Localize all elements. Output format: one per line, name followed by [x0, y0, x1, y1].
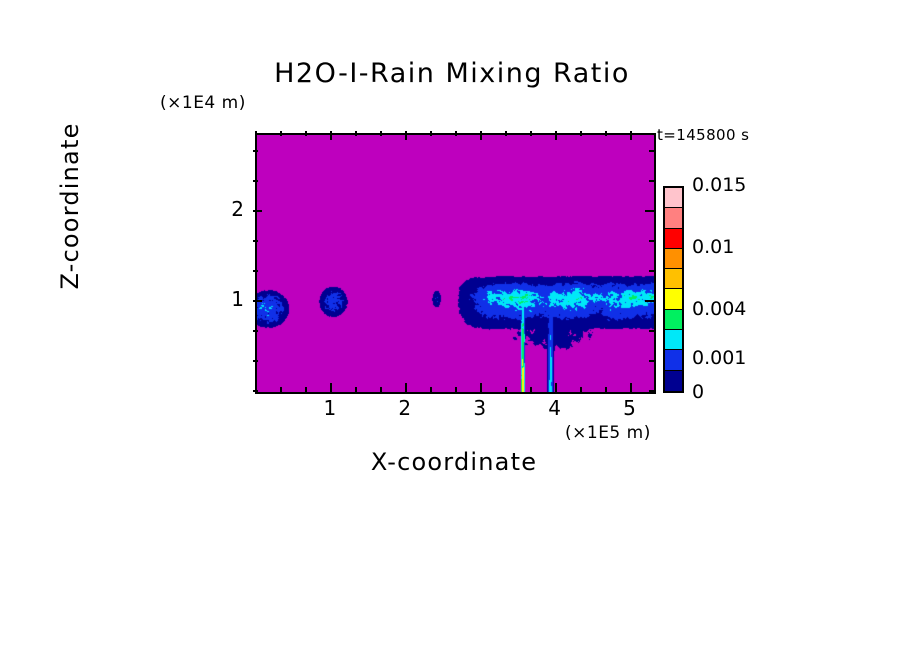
- x-axis-tick-top: [305, 131, 307, 136]
- x-axis-tick: [605, 387, 607, 392]
- y-axis-tick: [253, 240, 258, 242]
- y-axis-unit-label: (×1E4 m): [160, 93, 246, 113]
- contour-field: [257, 135, 654, 392]
- y-axis-tick: [253, 150, 258, 152]
- x-axis-tick-top: [430, 131, 432, 136]
- colorbar-tick-label: 0.004: [692, 298, 746, 320]
- x-axis-tick: [630, 383, 632, 392]
- x-axis-tick-top: [630, 131, 632, 140]
- y-axis-tick-right: [649, 390, 654, 392]
- y-axis-tick: [253, 210, 262, 212]
- colorbar-band: [665, 229, 682, 249]
- x-axis-tick: [355, 387, 357, 392]
- x-axis-tick: [305, 387, 307, 392]
- x-axis-tick: [480, 383, 482, 392]
- x-axis-tick-top: [555, 131, 557, 140]
- x-axis-tick-top: [405, 131, 407, 140]
- x-axis-tick-top: [255, 131, 257, 136]
- y-axis-tick-right: [649, 360, 654, 362]
- figure-canvas: H2O-I-Rain Mixing Ratio (×1E4 m) Z-coord…: [0, 0, 904, 654]
- colorbar-tick-label: 0: [692, 381, 704, 403]
- colorbar-band: [665, 249, 682, 269]
- x-axis-tick-label: 5: [610, 396, 650, 420]
- colorbar-band: [665, 371, 682, 391]
- y-axis-tick-right: [649, 150, 654, 152]
- x-axis-tick: [280, 387, 282, 392]
- x-axis-tick: [455, 387, 457, 392]
- y-axis-tick-right: [649, 240, 654, 242]
- x-axis-tick: [380, 387, 382, 392]
- y-axis-tick-label: 1: [222, 287, 244, 311]
- x-axis-tick-top: [455, 131, 457, 136]
- x-axis-title: X-coordinate: [255, 448, 653, 476]
- colorbar-tick-label: 0.015: [692, 174, 746, 196]
- colorbar-band: [665, 188, 682, 208]
- x-axis-tick-top: [480, 131, 482, 140]
- colorbar-band: [665, 289, 682, 309]
- colorbar-band: [665, 269, 682, 289]
- x-axis-tick: [505, 387, 507, 392]
- x-axis-tick-top: [530, 131, 532, 136]
- x-axis-tick: [405, 383, 407, 392]
- y-axis-title: Z-coordinate: [56, 76, 84, 336]
- plot-area: [255, 133, 656, 394]
- y-axis-tick: [253, 390, 258, 392]
- colorbar: [663, 186, 684, 393]
- y-axis-tick-right: [645, 210, 654, 212]
- x-axis-tick-top: [330, 131, 332, 140]
- x-axis-tick: [430, 387, 432, 392]
- x-axis-tick: [530, 387, 532, 392]
- y-axis-tick: [253, 270, 258, 272]
- x-axis-tick-top: [580, 131, 582, 136]
- x-axis-tick-top: [355, 131, 357, 136]
- y-axis-tick: [253, 360, 258, 362]
- colorbar-band: [665, 310, 682, 330]
- x-axis-tick-label: 1: [310, 396, 350, 420]
- timestamp-annotation: t=145800 s: [657, 126, 749, 144]
- y-axis-tick-right: [649, 180, 654, 182]
- colorbar-tick-label: 0.001: [692, 347, 746, 369]
- colorbar-tick-label: 0.01: [692, 236, 734, 258]
- x-axis-tick-label: 3: [460, 396, 500, 420]
- x-axis-tick-label: 2: [385, 396, 425, 420]
- y-axis-tick-right: [649, 270, 654, 272]
- colorbar-band: [665, 208, 682, 228]
- y-axis-tick-right: [649, 330, 654, 332]
- x-axis-tick-top: [380, 131, 382, 136]
- x-axis-tick: [580, 387, 582, 392]
- x-axis-tick-label: 4: [535, 396, 575, 420]
- y-axis-tick: [253, 330, 258, 332]
- colorbar-band: [665, 350, 682, 370]
- y-axis-tick-right: [645, 300, 654, 302]
- y-axis-tick: [253, 180, 258, 182]
- x-axis-tick: [555, 383, 557, 392]
- x-axis-unit-label: (×1E5 m): [565, 423, 651, 443]
- x-axis-tick: [330, 383, 332, 392]
- colorbar-band: [665, 330, 682, 350]
- x-axis-tick-top: [280, 131, 282, 136]
- page-title: H2O-I-Rain Mixing Ratio: [0, 58, 904, 89]
- y-axis-tick: [253, 300, 262, 302]
- x-axis-tick-top: [505, 131, 507, 136]
- x-axis-tick-top: [605, 131, 607, 136]
- y-axis-tick-label: 2: [222, 197, 244, 221]
